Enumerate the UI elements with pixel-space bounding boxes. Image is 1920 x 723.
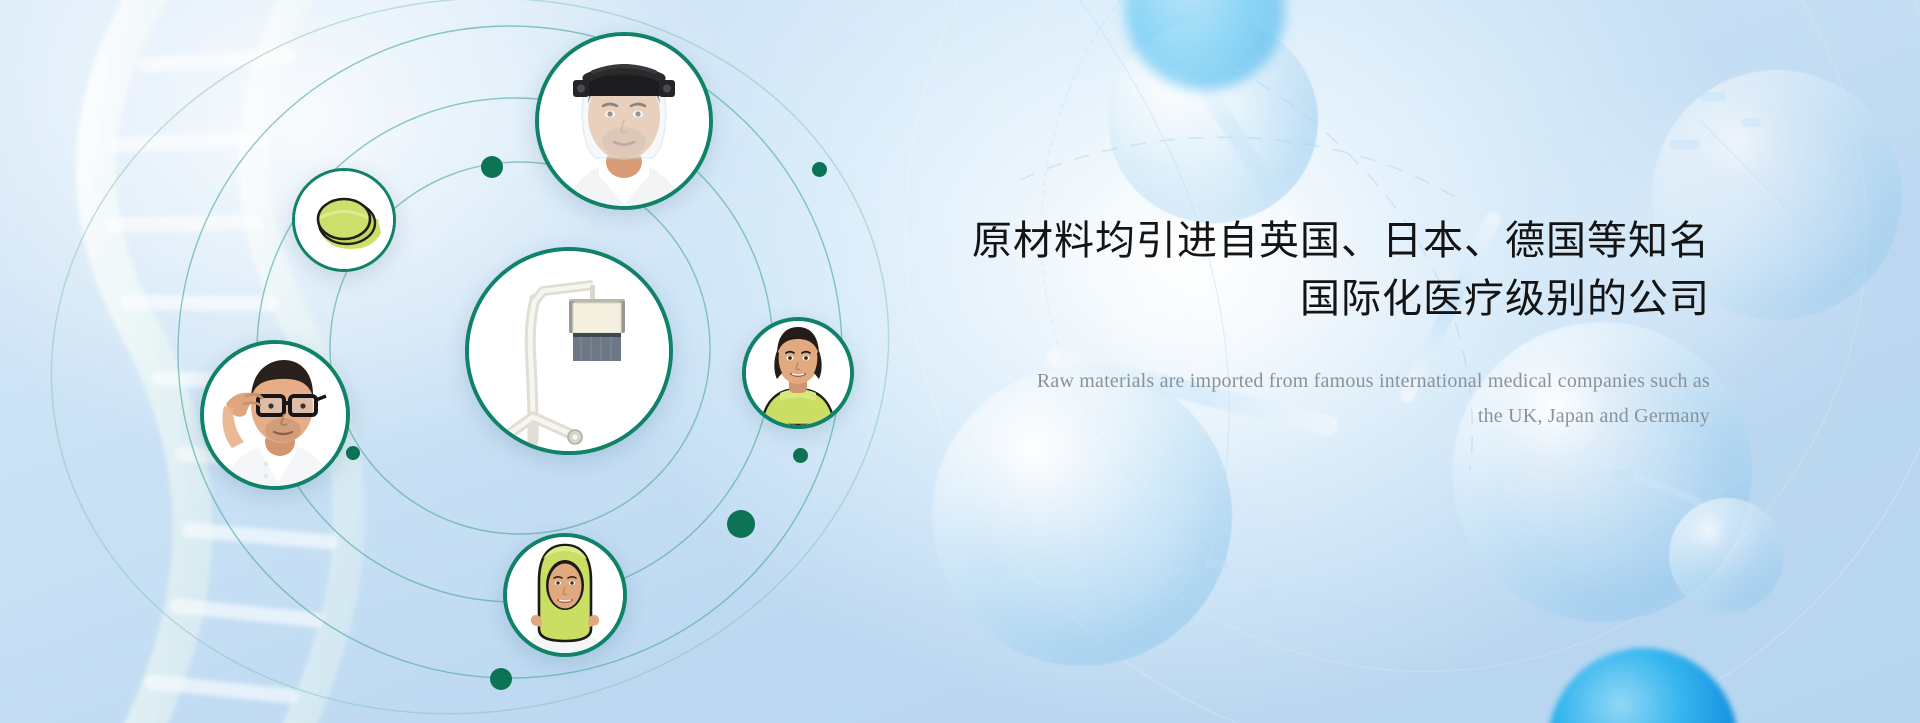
headline-line-1: 原材料均引进自英国、日本、德国等知名	[972, 219, 1710, 263]
page-title: 原材料均引进自英国、日本、德国等知名 国际化医疗级别的公司	[880, 212, 1710, 328]
orbit-dot-4	[793, 448, 808, 463]
orbit-dot-5	[727, 510, 755, 538]
protective-hood-photo	[507, 537, 623, 653]
bubble-lead-glasses[interactable]	[200, 340, 350, 490]
orbit-dot-3	[346, 446, 360, 460]
bubble-mobile-x-ray-barrier[interactable]	[465, 247, 673, 455]
orbit-dot-6	[490, 668, 512, 690]
orbit-dot-1	[481, 156, 503, 178]
protective-cap-photo	[295, 171, 393, 269]
thyroid-collar-photo	[746, 321, 850, 425]
subtitle-line-2: the UK, Japan and Germany	[880, 399, 1710, 434]
banner-subtitle: Raw materials are imported from famous i…	[880, 364, 1710, 434]
bubble-thyroid-collar[interactable]	[742, 317, 854, 429]
bubble-protective-cap[interactable]	[292, 168, 396, 272]
mobile-x-ray-barrier-photo	[469, 251, 669, 451]
headline-line-2: 国际化医疗级别的公司	[880, 270, 1710, 328]
bubble-face-shield-visor[interactable]	[535, 32, 713, 210]
subtitle-line-1: Raw materials are imported from famous i…	[1037, 370, 1710, 392]
hero-banner: 原材料均引进自英国、日本、德国等知名 国际化医疗级别的公司 Raw materi…	[0, 0, 1920, 723]
banner-copy: 原材料均引进自英国、日本、德国等知名 国际化医疗级别的公司 Raw materi…	[880, 212, 1710, 434]
orbit-dot-2	[812, 162, 827, 177]
bubble-protective-hood[interactable]	[503, 533, 627, 657]
lead-glasses-photo	[204, 344, 346, 486]
face-shield-visor-photo	[539, 36, 709, 206]
